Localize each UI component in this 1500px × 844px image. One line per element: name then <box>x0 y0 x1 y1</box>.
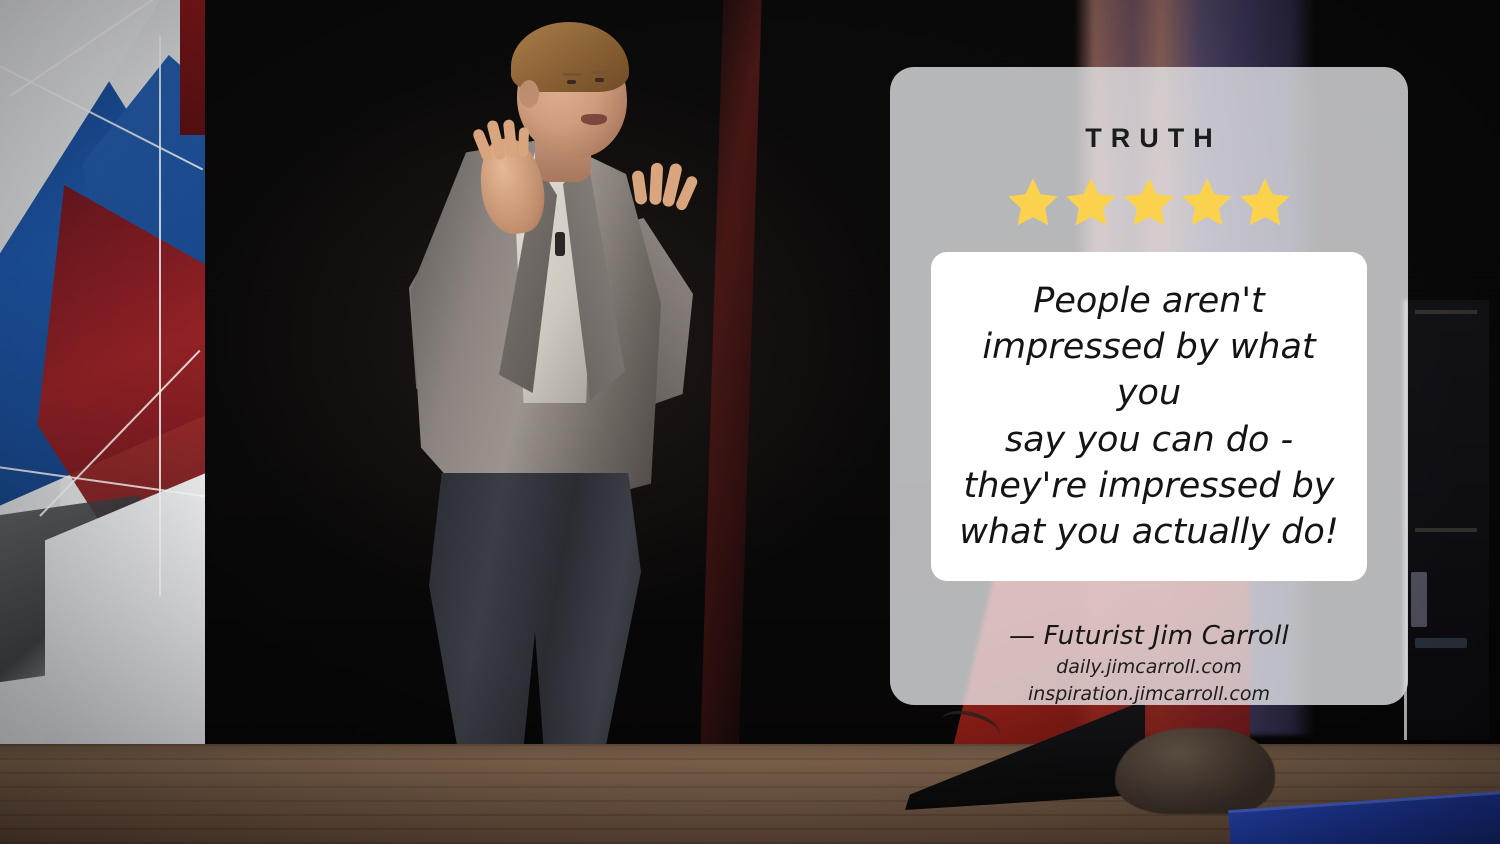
finger <box>649 163 663 206</box>
stage-equipment-rack <box>1404 300 1489 740</box>
star-icon <box>1237 174 1293 230</box>
quote-text: People aren't impressed by what you say … <box>949 278 1349 555</box>
speaker-mouth <box>581 114 607 125</box>
equipment-bag <box>1115 728 1275 814</box>
banner-line-5 <box>159 36 161 596</box>
link-inspiration[interactable]: inspiration.jimcarroll.com <box>1009 683 1289 705</box>
speaker-ear <box>519 80 539 108</box>
speaker-brow-left <box>563 73 581 76</box>
speaker-brow-right <box>593 71 611 74</box>
quote-line: what you actually do! <box>959 512 1339 552</box>
lapel-microphone-icon <box>555 232 565 256</box>
star-rating <box>1005 174 1293 230</box>
star-icon <box>1063 174 1119 230</box>
link-daily[interactable]: daily.jimcarroll.com <box>1009 656 1289 678</box>
stage-banner <box>0 0 205 750</box>
card-heading: TRUTH <box>1076 123 1221 154</box>
quote-panel: People aren't impressed by what you say … <box>931 252 1367 581</box>
quote-line: they're impressed by <box>963 466 1334 506</box>
star-icon <box>1005 174 1061 230</box>
attribution-block: — Futurist Jim Carroll daily.jimcarroll.… <box>1009 621 1289 705</box>
star-icon <box>1121 174 1177 230</box>
speaker-eye-right <box>595 78 604 82</box>
attribution-name: — Futurist Jim Carroll <box>1009 621 1289 651</box>
quote-line: say you can do - <box>1005 420 1293 460</box>
quote-card: TRUTH People aren't impressed by what yo… <box>890 67 1408 705</box>
star-icon <box>1179 174 1235 230</box>
finger <box>631 170 648 205</box>
speaker-eye-left <box>567 80 576 84</box>
quote-line: impressed by what you <box>982 327 1315 413</box>
quote-line: People aren't <box>1033 281 1265 321</box>
slide-canvas: TRUTH People aren't impressed by what yo… <box>0 0 1500 844</box>
banner-red-edge <box>180 0 205 135</box>
finger <box>518 127 529 157</box>
speaker-figure <box>395 18 725 818</box>
